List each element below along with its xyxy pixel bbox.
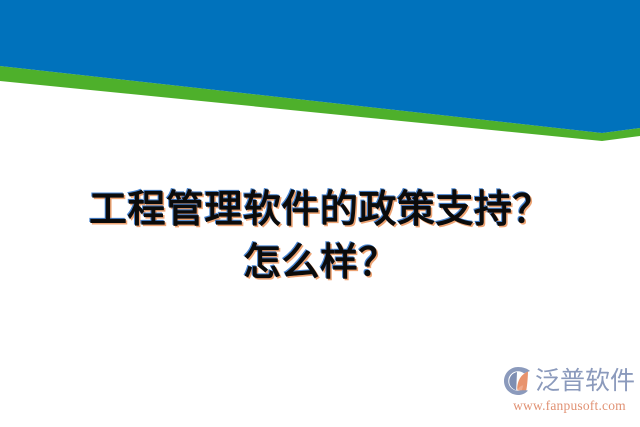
angled-header-banner xyxy=(0,0,640,160)
page-title: 工程管理软件的政策支持？ 怎么样？ xyxy=(0,183,640,289)
brand-logo-row: 泛普软件 xyxy=(502,364,635,398)
page-title-line-2: 怎么样？ xyxy=(0,236,640,289)
brand-logo: 泛普软件 www.fanpusoft.com xyxy=(502,364,634,420)
page-title-line-1: 工程管理软件的政策支持？ xyxy=(0,183,640,236)
slide-canvas: 工程管理软件的政策支持？ 怎么样？ 泛普软件 www.fanpusoft.com xyxy=(0,0,640,427)
brand-wordmark: 泛普软件 xyxy=(535,366,635,396)
banner-blue-shape xyxy=(0,0,640,133)
fanpu-circle-swoosh-logo-icon xyxy=(502,365,534,397)
brand-url: www.fanpusoft.com xyxy=(505,397,634,414)
